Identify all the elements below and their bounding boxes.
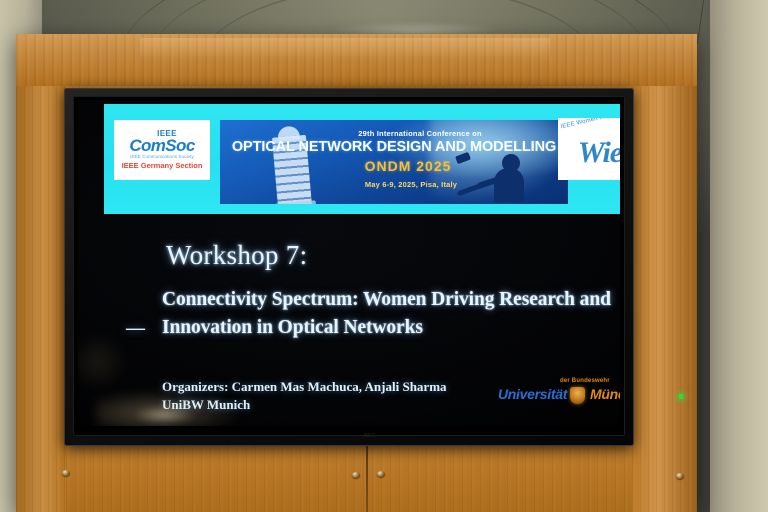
- bullet-dash: —: [126, 318, 145, 340]
- workshop-title: Connectivity Spectrum: Women Driving Res…: [162, 286, 620, 342]
- cabinet-door-seam: [366, 446, 368, 512]
- organizers-affiliation: UniBW Munich: [162, 396, 447, 414]
- universitaet-bundeswehr-logo: der Bundeswehr Universität München: [498, 378, 620, 408]
- tv-screen[interactable]: IEEE ComSoc IEEE Communications Society …: [78, 100, 620, 426]
- unibw-universitaet-text: Universität: [498, 386, 567, 402]
- cabinet-left-rail: [16, 34, 66, 512]
- organizers-block: Organizers: Carmen Mas Machuca, Anjali S…: [162, 378, 447, 414]
- cabinet-top-highlight: [140, 38, 550, 60]
- cabinet-right-rail: [632, 34, 697, 512]
- cabinet-door-knob[interactable]: [352, 472, 360, 478]
- ceiling-crack: [697, 0, 704, 44]
- workshop-number-heading: Workshop 7:: [166, 240, 307, 271]
- unibw-emblem-icon: [570, 387, 585, 404]
- unibw-subtitle: der Bundeswehr: [560, 378, 610, 384]
- cabinet-door-knob[interactable]: [676, 473, 684, 479]
- tv-brand-label: NEC: [355, 433, 385, 440]
- room-scene: NEC IEEE ComSoc IEEE Communications Soci…: [0, 0, 768, 512]
- wall-right: [710, 0, 768, 512]
- cabinet-doors[interactable]: [66, 446, 632, 512]
- unibw-muenchen-text: München: [590, 386, 620, 402]
- organizers-names: Organizers: Carmen Mas Machuca, Anjali S…: [162, 378, 447, 396]
- cabinet-door-knob[interactable]: [62, 470, 70, 476]
- cabinet-door-knob[interactable]: [377, 471, 385, 477]
- power-led-indicator: [679, 394, 683, 399]
- slide-content: Workshop 7: — Connectivity Spectrum: Wom…: [78, 100, 620, 426]
